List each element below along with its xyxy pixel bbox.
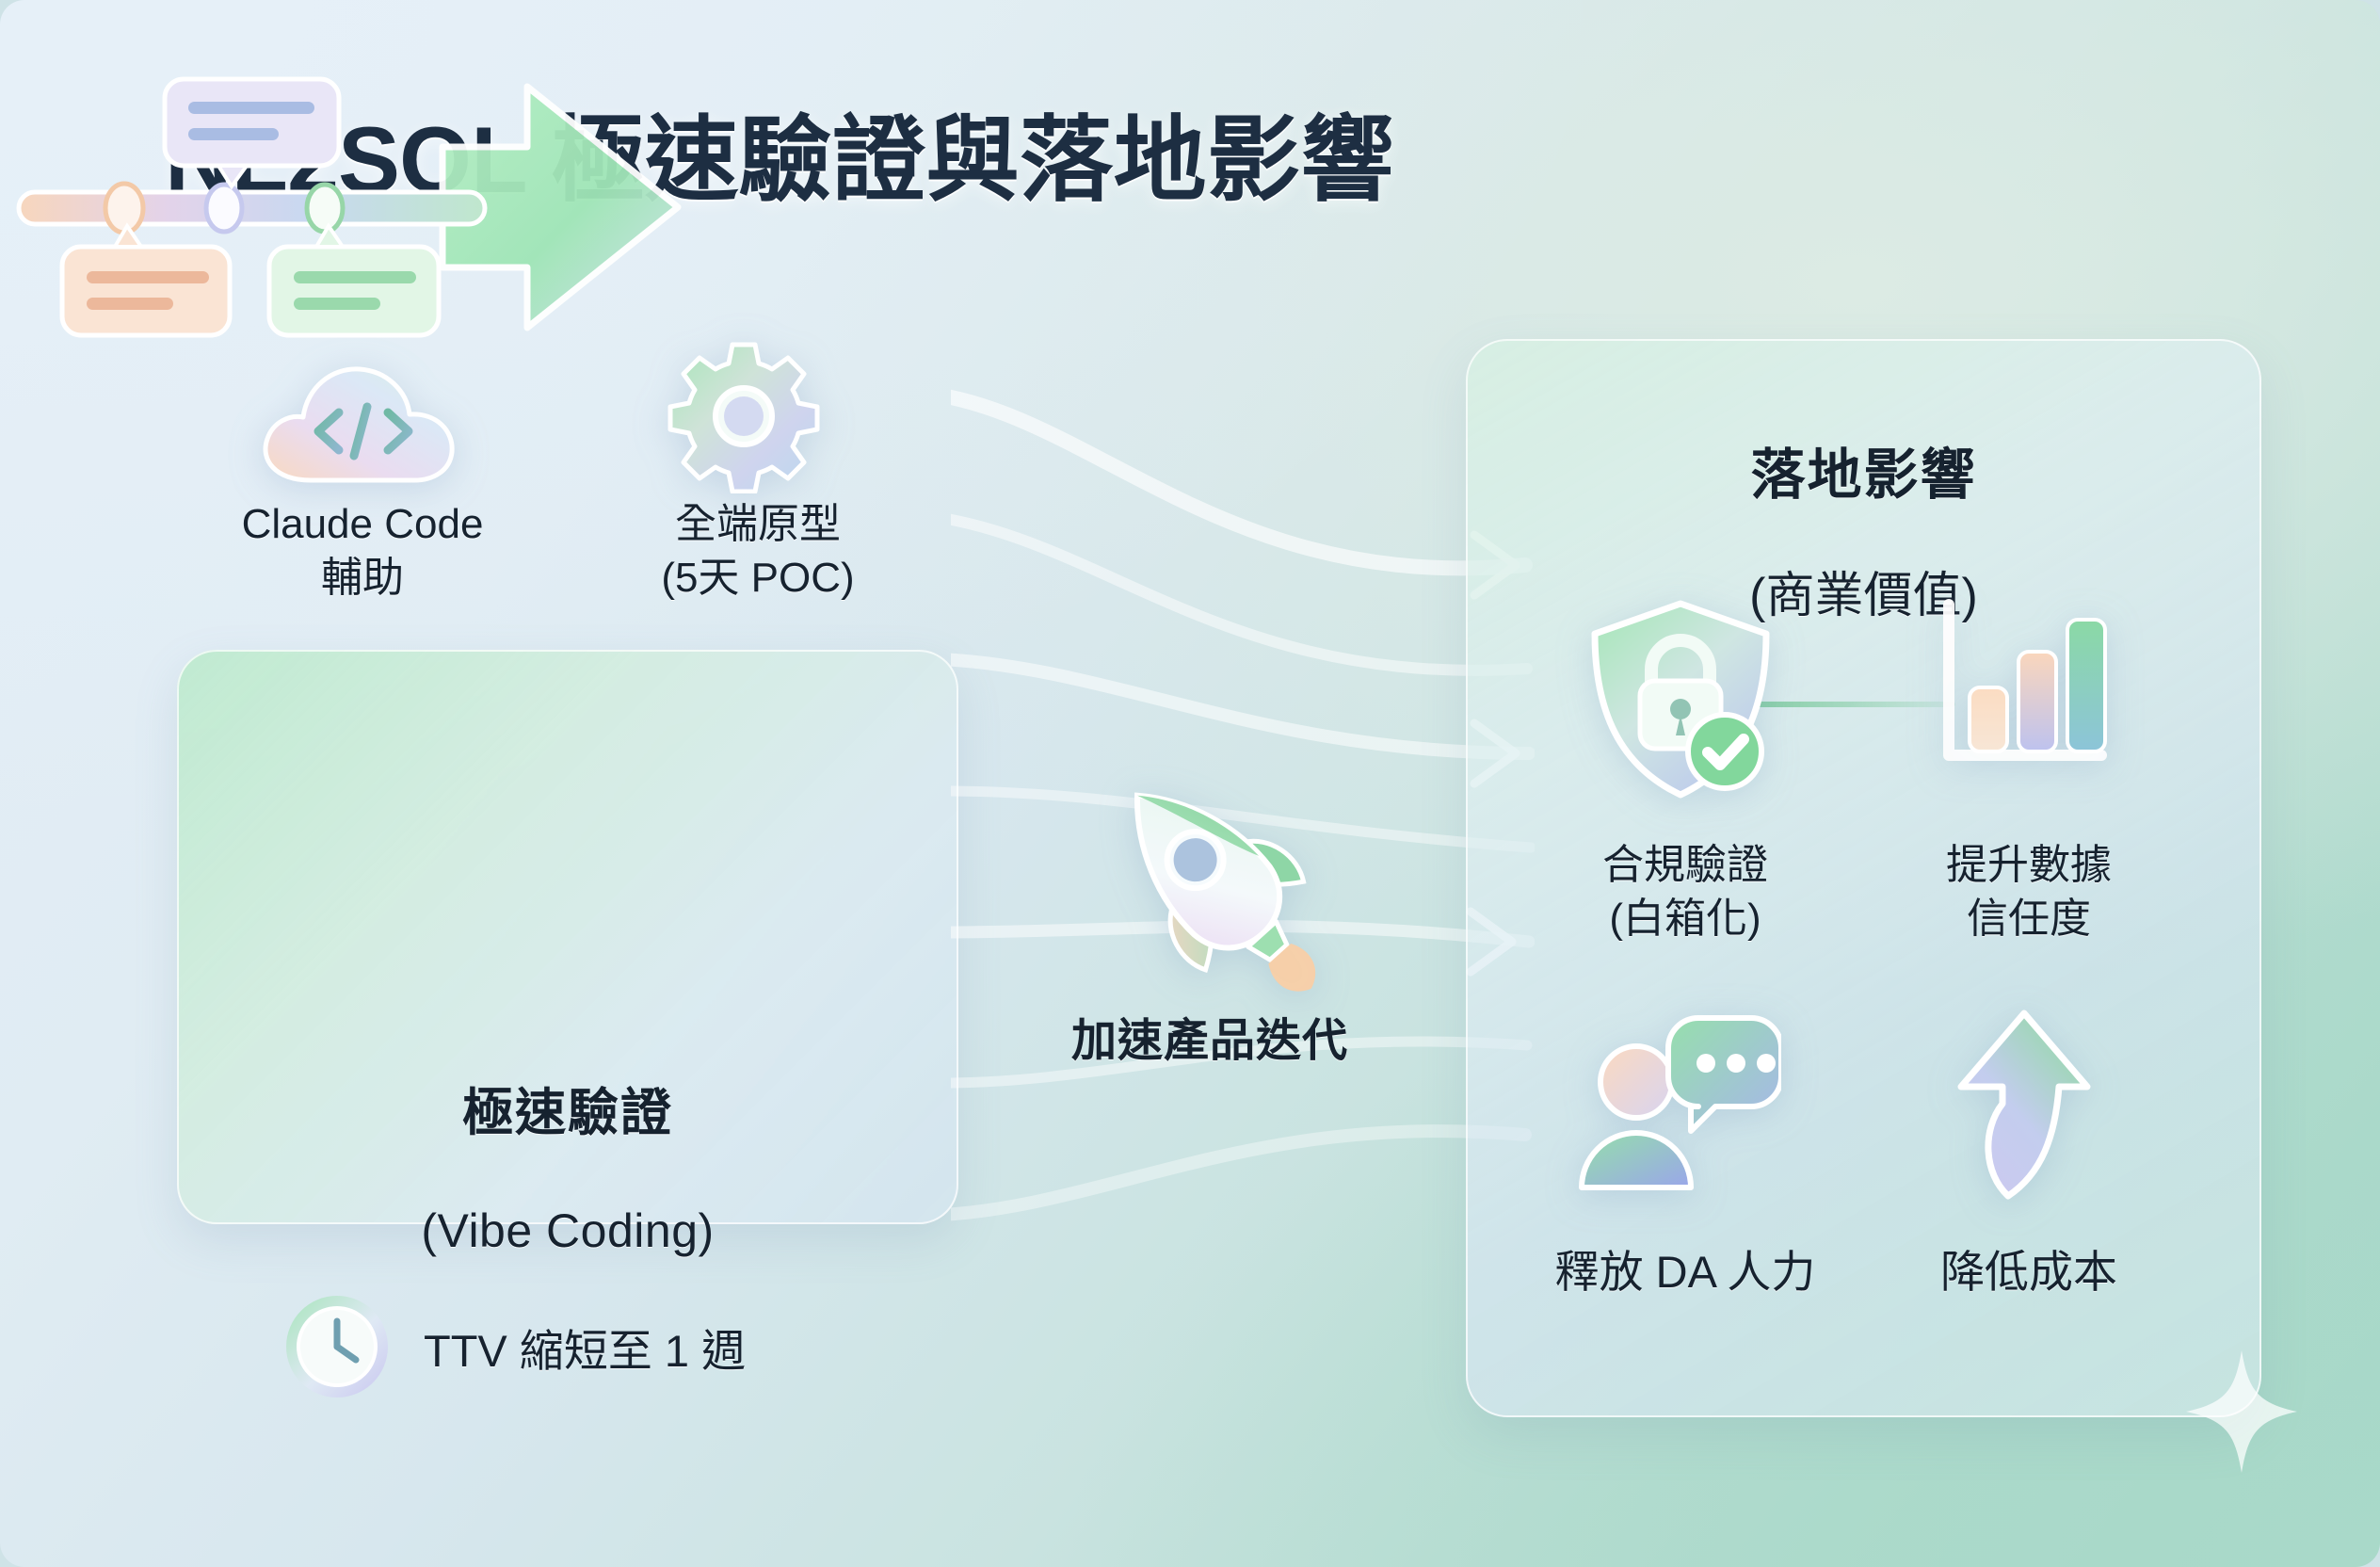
bar-chart-icon	[1921, 593, 2123, 796]
curved-up-arrow-icon	[1954, 1008, 2095, 1201]
compliance-label: 合規驗證 (白箱化)	[1506, 838, 1864, 945]
infographic-canvas: NL2SQL極速驗證與落地影響 Claude Code 輔助	[0, 0, 2380, 1567]
vibe-coding-caption: 極速驗證 (Vibe Coding)	[177, 1026, 958, 1316]
flow-label: 加速產品迭代	[998, 1012, 1422, 1071]
gear-label: 全端原型 (5天 POC)	[603, 497, 913, 605]
person-chat-icon	[1574, 1012, 1781, 1196]
vibe-coding-subtitle: (Vibe Coding)	[177, 1201, 958, 1262]
clock-icon	[282, 1292, 392, 1401]
ttv-label: TTV 縮短至 1 週	[424, 1315, 746, 1380]
right-arrow-timeline-icon	[0, 24, 781, 392]
vibe-coding-title: 極速驗證	[177, 1080, 958, 1146]
impact-title: 落地影響	[1466, 440, 2261, 510]
rocket-icon	[1087, 753, 1327, 994]
cloud-code-label: Claude Code 輔助	[160, 497, 565, 605]
cost-reduction-label: 降低成本	[1883, 1243, 2175, 1300]
shield-lock-check-icon	[1582, 598, 1779, 800]
sparkle-icon	[2186, 1350, 2297, 1473]
data-trust-label: 提升數據 信任度	[1873, 838, 2184, 945]
da-capacity-label: 釋放 DA 人力	[1497, 1243, 1873, 1300]
ttv-metric: TTV 縮短至 1 週	[282, 1292, 746, 1401]
